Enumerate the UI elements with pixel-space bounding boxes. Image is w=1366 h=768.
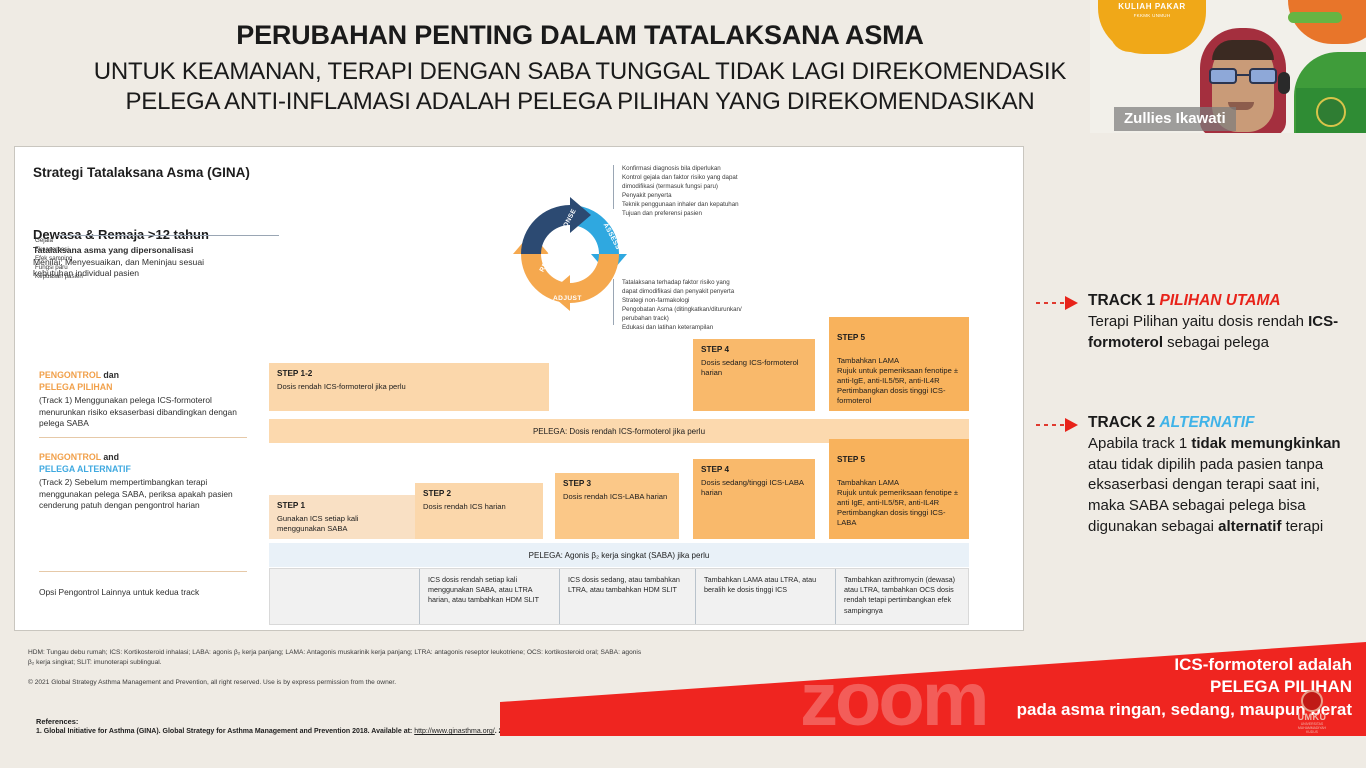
track2-callout-arrow [1036, 418, 1084, 432]
track1-callout-heading: TRACK 1 PILIHAN UTAMA [1088, 292, 1358, 310]
cycle-connector-assess [613, 165, 614, 209]
legend-track2-pelega: PELEGA ALTERNATIF [39, 464, 131, 474]
track1-step-5-title: STEP 5 [837, 333, 961, 344]
legend-track1-pengontrol: PENGONTROL [39, 370, 101, 380]
track2-step-1: STEP 1 Gunakan ICS setiap kali menggunak… [269, 495, 415, 539]
track2-step-1-title: STEP 1 [277, 501, 407, 512]
track1-callout: TRACK 1 PILIHAN UTAMA Terapi Pilihan yai… [1088, 292, 1358, 353]
track2-step-3-title: STEP 3 [563, 479, 671, 490]
track2-step-2-body: Dosis rendah ICS harian [423, 502, 506, 511]
legend-divider-1 [39, 437, 247, 438]
umku-logo-label: UMKU [1292, 712, 1332, 722]
legend-track2-body: (Track 2) Sebelum mempertimbangkan terap… [39, 477, 257, 512]
track2-step-3: STEP 3 Dosis rendah ICS-LABA harian [555, 473, 679, 539]
other-controller-options-table: ICS dosis rendah setiap kali menggunakan… [269, 568, 969, 625]
other-options-cell-4: Tambahkan azithromycin (dewasa) atau LTR… [836, 569, 968, 624]
ref-1-text: 1. Global Initiative for Asthma (GINA). … [36, 728, 414, 735]
track1-callout-arrow [1036, 296, 1084, 310]
other-options-cell-3: Tambahkan LAMA atau LTRA, atau beralih k… [696, 569, 836, 624]
webinar-badge-title: KULIAH PAKAR [1118, 2, 1186, 11]
legend-other-options-body: Opsi Pengontrol Lainnya untuk kedua trac… [39, 587, 257, 599]
track2-callout-heading: TRACK 2 ALTERNATIF [1088, 414, 1358, 432]
track2-step-2-title: STEP 2 [423, 489, 535, 500]
track1-callout-body: Terapi Pilihan yaitu dosis rendah ICS-fo… [1088, 312, 1358, 353]
glasses-lens-right [1249, 68, 1277, 84]
track2-callout-body-3: terapi [1281, 518, 1323, 535]
dashed-line-icon [1036, 302, 1066, 304]
track1-step-1-2-title: STEP 1-2 [277, 369, 541, 380]
track2-step-5-title: STEP 5 [837, 455, 961, 466]
track2-step-4-title: STEP 4 [701, 465, 807, 476]
glasses-lens-left [1209, 68, 1237, 84]
red-banner-line1: ICS-formoterol adalah [652, 654, 1352, 676]
legend-track2-pengontrol: PENGONTROL [39, 452, 101, 462]
ref-1-link[interactable]: http://www.ginasthma.org/ [414, 728, 495, 735]
track2-callout-body-bold2: alternatif [1218, 518, 1281, 535]
track2-step-3-body: Dosis rendah ICS-LABA harian [563, 492, 667, 501]
track2-step-4: STEP 4 Dosis sedang/tinggi ICS-LABA hari… [693, 459, 815, 539]
track2-step-4-body: Dosis sedang/tinggi ICS-LABA harian [701, 478, 804, 497]
glasses-icon [1209, 68, 1277, 84]
legend-other-options: Opsi Pengontrol Lainnya untuk kedua trac… [39, 585, 257, 599]
cycle-assess-text: Konfirmasi diagnosis bila diperlukanKont… [622, 165, 739, 219]
red-banner-line3: pada asma ringan, sedang, maupun berat [652, 699, 1352, 721]
gina-strategy-slide: Strategi Tatalaksana Asma (GINA) Dewasa … [14, 146, 1024, 631]
red-banner-text: ICS-formoterol adalah PELEGA PILIHAN pad… [652, 654, 1352, 721]
dashed-line-icon-2 [1036, 424, 1066, 426]
umku-logo: UMKU UNIVERSITAS MUHAMMADIYAH KUDUS [1292, 690, 1332, 734]
cycle-review-text: GejalaEksaserbasiEfek sampingFungsi paru… [35, 237, 125, 282]
video-participant-tile[interactable]: KULIAH PAKAR FKKMK UNMUH Zullies Ikawati [1090, 0, 1366, 133]
avatar-hairline [1212, 40, 1274, 60]
bottom-red-banner: zoom ICS-formoterol adalah PELEGA PILIHA… [500, 636, 1366, 736]
track1-callout-body-1: Terapi Pilihan yaitu dosis rendah [1088, 313, 1308, 330]
red-banner-line2: PELEGA PILIHAN [652, 676, 1352, 698]
track1-callout-label: TRACK 1 [1088, 292, 1159, 309]
legend-track1-pelega: PELEGA PILIHAN [39, 382, 112, 392]
umku-logo-icon [1301, 690, 1323, 712]
legend-track1-body: (Track 1) Menggunakan pelega ICS-formote… [39, 395, 257, 430]
cycle-adjust-text: Tatalaksana terhadap faktor risiko yangd… [622, 279, 742, 333]
track1-callout-body-2: sebagai pelega [1163, 334, 1269, 351]
track2-reliever-band: PELEGA: Agonis β₂ kerja singkat (SABA) j… [269, 543, 969, 567]
umku-logo-sub: UNIVERSITAS MUHAMMADIYAH KUDUS [1292, 722, 1332, 734]
cycle-label-adjust: ADJUST [553, 295, 582, 302]
cycle-connector-review [57, 235, 279, 236]
track1-step-4-body: Dosis sedang ICS-formoterol harian [701, 358, 799, 377]
track2-callout-label: TRACK 2 [1088, 414, 1159, 431]
track2-step-5: STEP 5 Tambahkan LAMA Rujuk untuk pemeri… [829, 439, 969, 539]
legend-track2-heading: PENGONTROL and PELEGA ALTERNATIF [39, 451, 257, 475]
track1-reliever-band-label: PELEGA: Dosis rendah ICS-formoterol jika… [533, 427, 705, 436]
legend-track2: PENGONTROL and PELEGA ALTERNATIF (Track … [39, 451, 257, 512]
track2-callout: TRACK 2 ALTERNATIF Apabila track 1 tidak… [1088, 414, 1358, 537]
university-emblem-icon [1316, 97, 1346, 127]
track2-reliever-band-label: PELEGA: Agonis β₂ kerja singkat (SABA) j… [529, 551, 710, 560]
track2-step-5-body: Tambahkan LAMA Rujuk untuk pemeriksaan f… [837, 478, 958, 527]
screen: PERUBAHAN PENTING DALAM TATALAKSANA ASMA… [0, 0, 1366, 768]
headset-icon [1278, 72, 1290, 94]
participant-name-label: Zullies Ikawati [1114, 107, 1236, 131]
track1-callout-emphasis: PILIHAN UTAMA [1159, 292, 1280, 309]
track2-step-2: STEP 2 Dosis rendah ICS harian [415, 483, 543, 539]
track1-step-1-2: STEP 1-2 Dosis rendah ICS-formoterol jik… [269, 363, 549, 411]
other-options-cell-0 [270, 569, 420, 624]
legend-divider-2 [39, 571, 247, 572]
cycle-connector-adjust [613, 279, 614, 325]
legend-track2-conj: and [101, 452, 119, 462]
header-title-line2: UNTUK KEAMANAN, TERAPI DENGAN SABA TUNGG… [0, 58, 1160, 86]
glasses-bridge [1237, 74, 1249, 76]
other-options-cell-1: ICS dosis rendah setiap kali menggunakan… [420, 569, 560, 624]
track1-step-5-body: Tambahkan LAMA Rujuk untuk pemeriksaan f… [837, 356, 958, 405]
track1-step-5: STEP 5 Tambahkan LAMA Rujuk untuk pemeri… [829, 317, 969, 411]
arrow-right-icon [1065, 296, 1078, 310]
header-title-line3: PELEGA ANTI-INFLAMASI ADALAH PELEGA PILI… [0, 88, 1160, 116]
legend-track1-heading: PENGONTROL dan PELEGA PILIHAN [39, 369, 257, 393]
legend-track1-conj: dan [101, 370, 119, 380]
track2-callout-emphasis: ALTERNATIF [1159, 414, 1254, 431]
track1-step-1-2-body: Dosis rendah ICS-formoterol jika perlu [277, 382, 406, 391]
other-options-cell-2: ICS dosis sedang, atau tambahkan LTRA, a… [560, 569, 696, 624]
arrow-right-icon-2 [1065, 418, 1078, 432]
track2-callout-body-1: Apabila track 1 [1088, 435, 1191, 452]
track2-callout-body-bold1: tidak memungkinkan [1191, 435, 1340, 452]
decor-green-pill [1288, 12, 1342, 23]
webinar-badge: KULIAH PAKAR FKKMK UNMUH [1104, 2, 1200, 18]
track2-callout-body: Apabila track 1 tidak memungkinkan atau … [1088, 434, 1358, 537]
track1-step-4-title: STEP 4 [701, 345, 807, 356]
track2-step-1-body: Gunakan ICS setiap kali menggunakan SABA [277, 514, 358, 533]
header-title-line1: PERUBAHAN PENTING DALAM TATALAKSANA ASMA [0, 20, 1160, 51]
slide-title: Strategi Tatalaksana Asma (GINA) [33, 165, 250, 180]
webinar-badge-sub: FKKMK UNMUH [1104, 13, 1200, 18]
track1-step-4: STEP 4 Dosis sedang ICS-formoterol haria… [693, 339, 815, 411]
legend-track1: PENGONTROL dan PELEGA PILIHAN (Track 1) … [39, 369, 257, 430]
assess-adjust-review-cycle: REVIEW RESPONSE ASSESS ADJUST [505, 189, 635, 319]
